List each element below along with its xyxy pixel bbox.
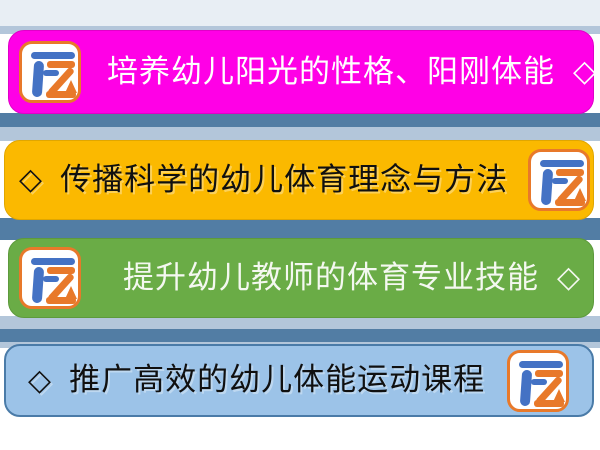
logo-top-bar bbox=[31, 258, 75, 265]
row-2-bar[interactable]: ◇ 传播科学的幼儿体育理念与方法 bbox=[4, 140, 594, 220]
background-band-2-light bbox=[0, 127, 600, 141]
row-2-diamond-icon: ◇ bbox=[19, 165, 42, 195]
logo-triangle bbox=[553, 389, 565, 402]
logo-top-bar bbox=[540, 160, 584, 167]
background-band-3-dark bbox=[0, 329, 600, 342]
infographic-canvas: 培养幼儿阳光的性格、阳刚体能 ◇ ◇ 传播科学的幼儿体育理念与方法 提升幼儿教师… bbox=[0, 0, 600, 450]
logo-stem bbox=[541, 169, 553, 206]
fz-logo-icon bbox=[19, 247, 81, 309]
row-3-diamond-icon: ◇ bbox=[557, 263, 580, 293]
row-1-label: 培养幼儿阳光的性格、阳刚体能 bbox=[107, 57, 555, 88]
logo-stem bbox=[32, 61, 44, 98]
logo-dash bbox=[531, 379, 547, 385]
logo-z-top bbox=[535, 370, 563, 377]
fz-logo-icon bbox=[19, 41, 81, 103]
row-2-label: 传播科学的幼儿体育理念与方法 bbox=[60, 165, 508, 196]
logo-stem bbox=[520, 369, 532, 406]
row-3-label: 提升幼儿教师的体育专业技能 bbox=[123, 263, 539, 294]
logo-triangle bbox=[65, 286, 77, 299]
row-4-label: 推广高效的幼儿体能运动课程 bbox=[69, 365, 485, 396]
fz-logo-icon bbox=[507, 350, 569, 412]
logo-triangle bbox=[574, 188, 586, 201]
logo-dash bbox=[43, 276, 59, 282]
logo-top-bar bbox=[519, 361, 563, 368]
fz-logo-icon bbox=[528, 149, 590, 211]
logo-triangle bbox=[65, 80, 77, 93]
logo-dash bbox=[552, 178, 568, 184]
row-4-bar[interactable]: ◇ 推广高效的幼儿体能运动课程 bbox=[4, 344, 594, 417]
logo-stem bbox=[32, 267, 44, 304]
row-1-bar[interactable]: 培养幼儿阳光的性格、阳刚体能 ◇ bbox=[8, 30, 594, 114]
background-band-2-dark bbox=[0, 218, 600, 240]
row-4-diamond-icon: ◇ bbox=[28, 366, 51, 396]
logo-dash bbox=[43, 70, 59, 76]
logo-top-bar bbox=[31, 52, 75, 59]
row-1-diamond-icon: ◇ bbox=[573, 57, 596, 87]
row-3-bar[interactable]: 提升幼儿教师的体育专业技能 ◇ bbox=[8, 238, 594, 318]
background-band-1-dark bbox=[0, 113, 600, 127]
